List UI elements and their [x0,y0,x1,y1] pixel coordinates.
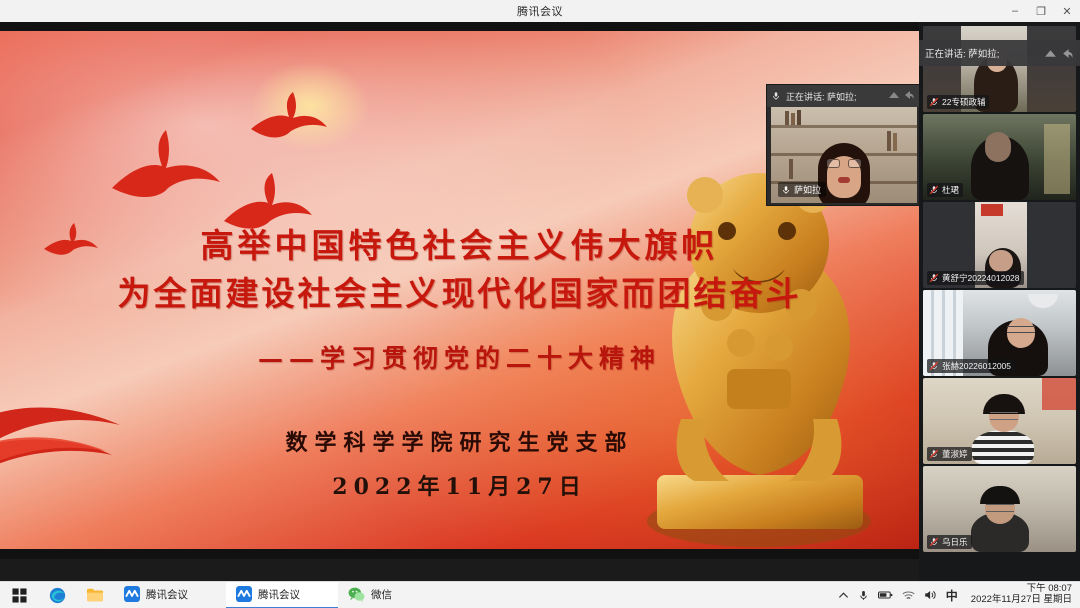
participant-name: 杜珺 [942,184,959,196]
pip-header: 正在讲话: 萨如拉; [767,85,919,107]
taskbar-item-tencent-meeting-2[interactable]: 腾讯会议 [226,582,338,608]
slide-date: 2022年11月27日 [0,469,919,501]
restore-button[interactable]: ❐ [1028,0,1054,22]
window-controls: – ❐ ✕ [1002,0,1080,22]
file-explorer-icon[interactable] [76,582,114,608]
pip-speaking-label: 正在讲话: 萨如拉; [786,90,857,103]
window-title: 腾讯会议 [517,3,563,19]
participant-tile[interactable]: 乌日乐 [923,466,1076,552]
participant-name-badge: 张赫20226012005 [927,359,1015,373]
taskbar-item-label: 微信 [371,587,392,602]
collapse-icon[interactable] [888,89,900,101]
taskbar-item-tencent-meeting-1[interactable]: 腾讯会议 [114,582,226,608]
participant-name-badge: 22专硕政辅 [927,95,989,109]
close-button[interactable]: ✕ [1054,0,1080,22]
start-button[interactable] [0,582,38,608]
slide-subtitle: ——学习贯彻党的二十大精神 [0,339,919,375]
participant-tile[interactable]: 黄舒宁20224012028 [923,202,1076,288]
microphone-icon [781,185,791,195]
participant-tile[interactable]: 张赫20226012005 [923,290,1076,376]
microphone-icon [771,91,781,101]
meeting-window: 腾讯会议 – ❐ ✕ [0,0,1080,608]
participant-name: 董淑婷 [942,448,968,460]
participant-tile[interactable]: 董淑婷 [923,378,1076,464]
participant-name-badge: 乌日乐 [927,535,972,549]
taskbar-clock[interactable]: 下午 08:07 2022年11月27日 星期日 [967,584,1072,606]
microphone-muted-icon [929,273,939,283]
microphone-muted-icon [929,537,939,547]
battery-icon[interactable] [878,590,893,600]
taskbar-item-wechat[interactable]: 微信 [338,582,450,608]
windows-logo-icon[interactable] [12,588,27,603]
pip-name-badge: 萨如拉 [778,182,826,197]
folder-icon[interactable] [86,587,104,603]
microphone-icon[interactable] [858,589,869,602]
slide-organization: 数学科学学院研究生党支部 [0,425,919,457]
volume-tray-icon[interactable] [924,589,937,601]
slide-title-line-1: 高举中国特色社会主义伟大旗帜 [0,219,919,267]
pip-participant-name: 萨如拉 [794,183,821,196]
speaker-icon[interactable] [924,589,937,601]
participant-name-badge: 黄舒宁20224012028 [927,271,1024,285]
edge-icon[interactable] [49,587,66,604]
system-tray: 中 下午 08:07 2022年11月27日 星期日 [838,582,1080,608]
sidebar-banner-controls[interactable] [1044,47,1074,60]
slide-title-line-2: 为全面建设社会主义现代化国家而团结奋斗 [0,267,919,315]
wifi-icon[interactable] [902,590,915,601]
clock-date: 2022年11月27日 星期日 [971,595,1072,606]
participant-sidebar[interactable]: 22专硕政辅 杜珺 [919,22,1080,608]
undo-arrow-icon[interactable] [1061,47,1074,60]
chevron-up-icon[interactable] [838,590,849,601]
windows-taskbar: 腾讯会议 腾讯会议 微信 [0,581,1080,608]
taskbar-pinned-icons [0,582,114,608]
tencent-meeting-icon [124,586,140,602]
sidebar-speaking-banner: 正在讲话: 萨如拉; [919,40,1080,66]
participant-tile[interactable]: 22专硕政辅 [923,26,1076,112]
speaker-pip-window[interactable]: 正在讲话: 萨如拉; [766,84,919,206]
collapse-icon[interactable] [1044,47,1057,60]
undo-arrow-icon[interactable] [903,89,915,101]
participant-tile[interactable]: 杜珺 [923,114,1076,200]
taskbar-item-label: 腾讯会议 [258,587,300,602]
microphone-muted-icon [929,185,939,195]
participant-name-badge: 董淑婷 [927,447,972,461]
participant-name: 22专硕政辅 [942,96,985,108]
microphone-muted-icon [929,97,939,107]
shared-screen-stage[interactable]: 高举中国特色社会主义伟大旗帜 为全面建设社会主义现代化国家而团结奋斗 ——学习贯… [0,22,919,559]
microphone-muted-icon [929,361,939,371]
microphone-tray-icon[interactable] [858,589,869,602]
title-bar: 腾讯会议 – ❐ ✕ [0,0,1080,22]
show-hidden-icons-button[interactable] [838,590,849,601]
participant-name: 张赫20226012005 [942,360,1011,372]
participant-tile-list: 22专硕政辅 杜珺 [919,26,1080,554]
wechat-icon [348,587,365,602]
minimize-button[interactable]: – [1002,0,1028,22]
wifi-tray-icon[interactable] [902,590,915,601]
tencent-meeting-icon [236,586,252,602]
taskbar-item-label: 腾讯会议 [146,587,188,602]
participant-name: 乌日乐 [942,536,968,548]
sidebar-speaking-label: 正在讲话: 萨如拉; [925,46,999,60]
battery-tray-icon[interactable] [878,590,893,600]
ime-indicator[interactable]: 中 [946,587,958,604]
participant-name-badge: 杜珺 [927,183,963,197]
microphone-muted-icon [929,449,939,459]
edge-browser-icon[interactable] [38,582,76,608]
pip-video-feed: 萨如拉 [771,107,917,203]
participant-name: 黄舒宁20224012028 [942,272,1020,284]
pip-controls[interactable] [888,89,915,101]
